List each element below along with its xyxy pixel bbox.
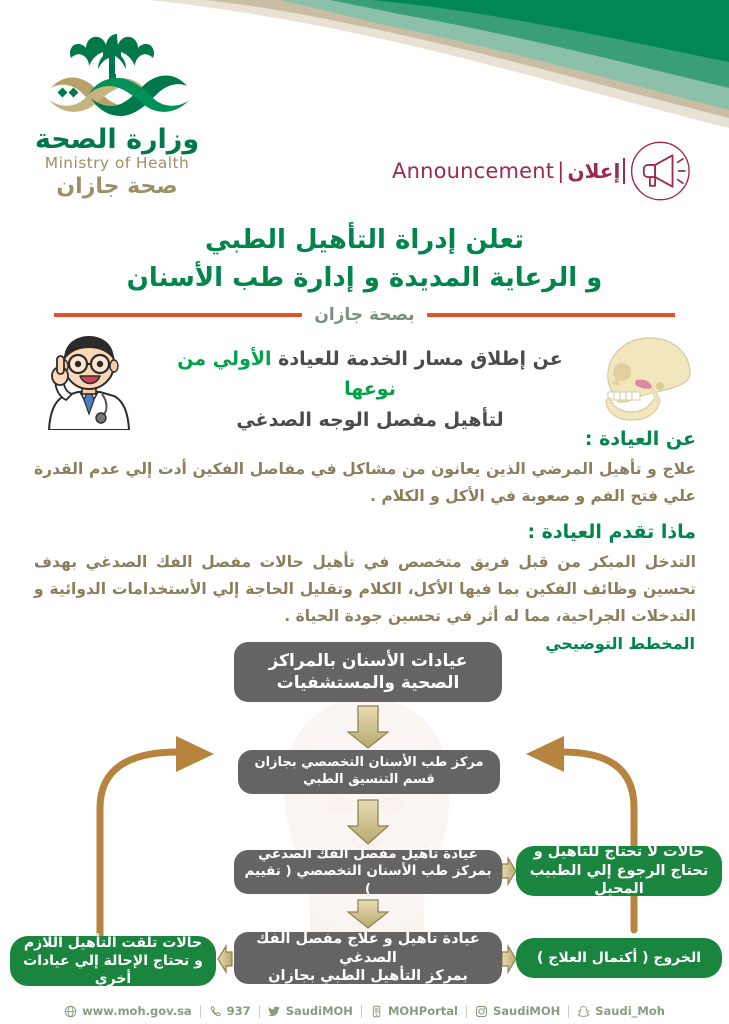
announcement-arabic: إعلان xyxy=(568,159,621,183)
section-2-heading: ماذا تقدم العيادة : xyxy=(34,521,696,543)
hero-line-1-text: عن إطلاق مسار الخدمة للعيادة xyxy=(272,348,563,370)
megaphone-icon xyxy=(629,135,692,207)
footer-item-website[interactable]: www.moh.gov.sa xyxy=(56,1004,200,1018)
flow-node-treat-line2: بمركز التأهيل الطبي بجازان xyxy=(243,967,493,986)
flow-node-center-line2: قسم التنسيق الطبي xyxy=(254,772,483,789)
flow-node-clinics[interactable]: عيادات الأسنان بالمراكز الصحية والمستشفي… xyxy=(234,642,502,702)
divider-line-left xyxy=(54,313,302,317)
footer-phone-label: 937 xyxy=(227,1004,251,1018)
flow-node-treatment-clinic[interactable]: عيادة تأهيل و علاج مفصل الفك الصدغي بمرك… xyxy=(234,932,502,984)
flow-node-evaluation-clinic[interactable]: عيادة تأهيل مفصل الفك الصدغي بمركز طب ال… xyxy=(234,850,502,894)
logo-region-name: صحة جازان xyxy=(22,174,212,200)
logo-arabic-name: وزارة الصحة xyxy=(22,126,212,154)
divider-line-right xyxy=(427,313,675,317)
skull-tmj-illustration xyxy=(594,330,706,430)
globe-icon xyxy=(64,1005,77,1018)
flow-node-coordination-center[interactable]: مركز طب الأسنان التخصصي بجازان قسم التنس… xyxy=(238,750,500,794)
section-1-body: علاج و تأهيل المرضي الذين يعانون من مشاك… xyxy=(34,456,696,509)
footer-website-label: www.moh.gov.sa xyxy=(82,1004,192,1018)
phone-icon xyxy=(209,1005,222,1018)
doctor-cartoon-illustration xyxy=(34,330,146,430)
arrow-eval-to-norehab xyxy=(502,858,516,884)
footer-twitter-label: SaudiMOH xyxy=(286,1004,353,1018)
footer-item-snapchat[interactable]: Saudi_Moh xyxy=(569,1004,673,1018)
footer-contact-bar: www.moh.gov.sa 937 SaudiMOH MOHPortal xyxy=(0,998,729,1024)
arrow-treat-to-exit xyxy=(502,946,516,972)
flow-node-eval-line2: بمركز طب الأسنان التخصصي ( تقييم ) xyxy=(243,863,493,898)
app-icon xyxy=(370,1005,383,1018)
divider-label: بصحة جازان xyxy=(314,305,414,325)
flow-node-referral-other-clinics[interactable]: حالات تلقت التأهيل اللازم و تحتاج الإحال… xyxy=(10,936,216,986)
ghost-head-illustration xyxy=(232,688,502,938)
flowchart-diagram: عيادات الأسنان بالمراكز الصحية والمستشفي… xyxy=(0,628,729,993)
arrow-treat-to-refer xyxy=(218,946,232,972)
announcement-divider-bar xyxy=(623,158,625,184)
flow-node-no-rehab-needed[interactable]: حالات لا تحتاج للتأهيل و تحتاج الرجوع إل… xyxy=(516,846,722,896)
twitter-icon xyxy=(268,1005,281,1018)
flow-node-treat-line1: عيادة تأهيل و علاج مفصل الفك الصدغي xyxy=(243,930,493,968)
page-title: تعلن إدراة التأهيل الطبي و الرعاية المدي… xyxy=(0,222,729,297)
footer-item-app[interactable]: MOHPortal xyxy=(362,1004,466,1018)
announcement-label: Announcement | إعلان xyxy=(392,158,625,184)
poster-root: وزارة الصحة Ministry of Health صحة جازان… xyxy=(0,0,729,1024)
title-divider: بصحة جازان xyxy=(0,302,729,328)
footer-item-phone[interactable]: 937 xyxy=(201,1004,259,1018)
announcement-english: Announcement xyxy=(392,159,554,183)
snapchat-icon xyxy=(577,1005,590,1018)
flow-node-exit-treatment-complete[interactable]: الخروج ( أكتمال العلاج ) xyxy=(516,938,722,978)
section-1-heading: عن العيادة : xyxy=(34,428,696,450)
arrow-loop-right-to-center xyxy=(526,736,634,930)
title-line-2: و الرعاية المديدة و إدارة طب الأسنان xyxy=(0,260,729,298)
footer-item-twitter[interactable]: SaudiMOH xyxy=(260,1004,361,1018)
arrow-loop-left-refer-to-center xyxy=(100,736,214,936)
footer-item-instagram[interactable]: SaudiMOH xyxy=(467,1004,568,1018)
flow-node-center-line1: مركز طب الأسنان التخصصي بجازان xyxy=(254,755,483,772)
moh-logo: وزارة الصحة Ministry of Health صحة جازان xyxy=(22,26,212,201)
body-sections: عن العيادة : علاج و تأهيل المرضي الذين ي… xyxy=(34,428,696,629)
announcement-separator: | xyxy=(557,159,564,183)
logo-english-name: Ministry of Health xyxy=(22,154,212,173)
footer-instagram-label: SaudiMOH xyxy=(493,1004,560,1018)
hero-line-1: عن إطلاق مسار الخدمة للعيادة الأولي من ن… xyxy=(150,344,590,405)
flow-node-eval-line1: عيادة تأهيل مفصل الفك الصدغي xyxy=(243,846,493,864)
hero-section: عن إطلاق مسار الخدمة للعيادة الأولي من ن… xyxy=(0,330,729,430)
announcement-badge: Announcement | إعلان xyxy=(392,128,692,214)
moh-palm-swords-logo xyxy=(37,26,197,126)
footer-app-label: MOHPortal xyxy=(388,1004,458,1018)
hero-headline: عن إطلاق مسار الخدمة للعيادة الأولي من ن… xyxy=(150,344,590,435)
instagram-icon xyxy=(475,1005,488,1018)
title-line-1: تعلن إدراة التأهيل الطبي xyxy=(0,222,729,260)
footer-snapchat-label: Saudi_Moh xyxy=(595,1004,665,1018)
section-2-body: التدخل المبكر من قبل فريق متخصص في تأهيل… xyxy=(34,549,696,629)
